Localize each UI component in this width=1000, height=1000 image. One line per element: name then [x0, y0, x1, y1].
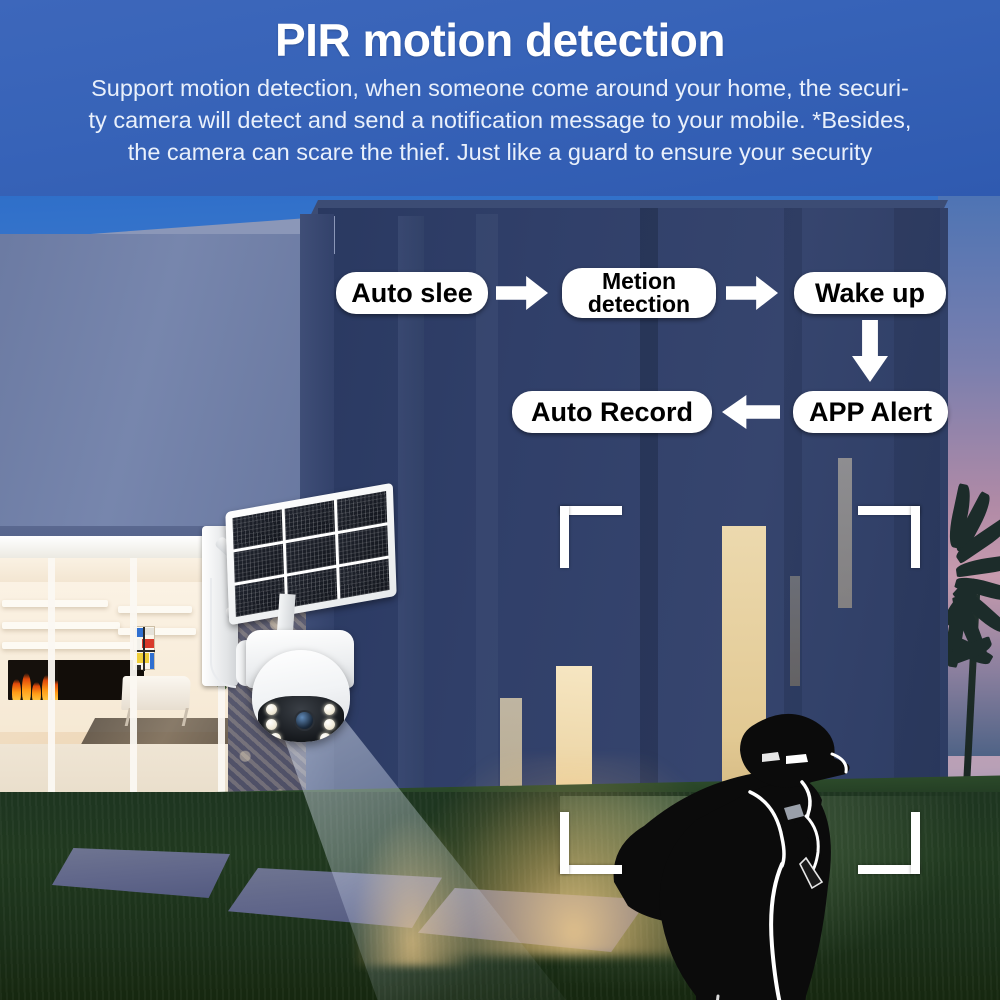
flow-step-wake-up-label: Wake up: [815, 280, 925, 307]
flow-step-app-alert-label: APP Alert: [809, 399, 932, 426]
arrow-motion-to-wake-icon: [726, 276, 778, 310]
flow-step-app-alert[interactable]: APP Alert: [793, 391, 948, 433]
flow-step-auto-sleep[interactable]: Auto slee: [336, 272, 488, 314]
infographic-page: Auto slee Metion detection Wake up APP A…: [0, 0, 1000, 1000]
flow-step-motion-detection-line1: Metion: [602, 270, 676, 293]
flow-step-auto-sleep-label: Auto slee: [351, 280, 473, 307]
flow-step-motion-detection-line2: detection: [588, 293, 690, 316]
flow-step-motion-detection[interactable]: Metion detection: [562, 268, 716, 318]
flow-step-wake-up[interactable]: Wake up: [794, 272, 946, 314]
arrow-wake-to-app-icon: [852, 320, 888, 382]
workflow-diagram: Auto slee Metion detection Wake up APP A…: [0, 0, 1000, 1000]
flow-step-auto-record-label: Auto Record: [531, 399, 693, 426]
arrow-sleep-to-motion-icon: [496, 276, 548, 310]
flow-step-auto-record[interactable]: Auto Record: [512, 391, 712, 433]
arrow-app-to-record-icon: [722, 395, 780, 429]
